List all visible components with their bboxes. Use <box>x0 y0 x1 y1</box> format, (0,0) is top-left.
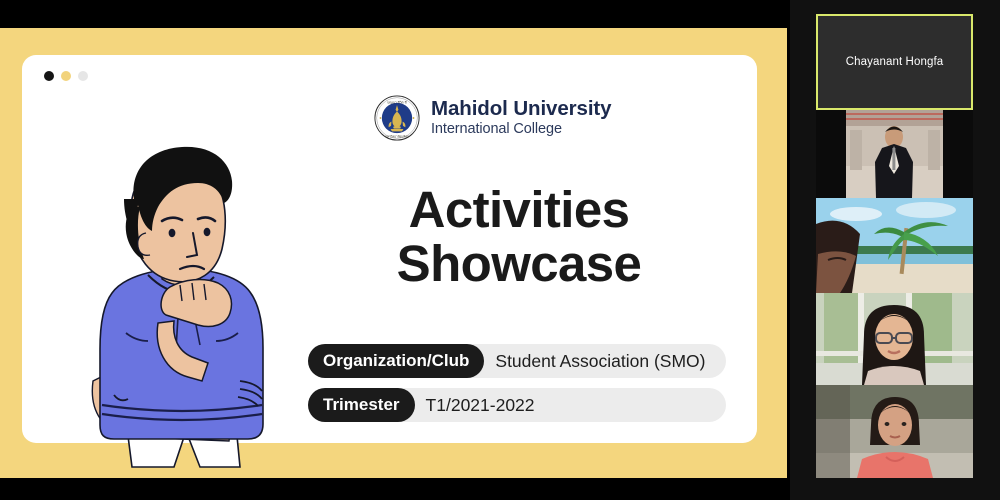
meta-key-organization: Organization/Club <box>308 344 484 378</box>
meta-row-trimester: Trimester T1/2021-2022 <box>308 388 726 422</box>
meta-row-organization: Organization/Club Student Association (S… <box>308 344 726 378</box>
window-dots <box>44 71 88 81</box>
slide-meta-rows: Organization/Club Student Association (S… <box>308 344 726 422</box>
slide-title-line-2: Showcase <box>284 237 754 291</box>
participant-tile-3[interactable] <box>816 293 973 385</box>
participant-tile-1[interactable] <box>816 110 973 198</box>
dot-gray-icon <box>78 71 88 81</box>
participant-tile-4[interactable] <box>816 385 973 478</box>
shared-screen-region[interactable]: ปญฺญา ชีวิต ชี มหาวิทยาลัยมหิดล Mahidol … <box>0 0 790 500</box>
meeting-screen: ปญฺญา ชีวิต ชี มหาวิทยาลัยมหิดล Mahidol … <box>0 0 1000 500</box>
svg-text:มหาวิทยาลัยมหิดล: มหาวิทยาลัยมหิดล <box>385 134 409 138</box>
meta-value-organization: Student Association (SMO) <box>484 351 705 372</box>
participant-video-3 <box>816 293 973 385</box>
participant-tile-2[interactable] <box>816 198 973 293</box>
mahidol-university-seal-icon: ปญฺญา ชีวิต ชี มหาวิทยาลัยมหิดล <box>374 95 420 141</box>
slide-title-line-1: Activities <box>284 183 754 237</box>
university-division: International College <box>431 122 611 137</box>
thinking-person-illustration <box>62 137 302 470</box>
dot-black-icon <box>44 71 54 81</box>
participant-video-4 <box>816 385 973 478</box>
participant-video-1 <box>816 110 973 198</box>
dot-yellow-icon <box>61 71 71 81</box>
meta-key-trimester: Trimester <box>308 388 415 422</box>
university-name: Mahidol University <box>431 98 611 120</box>
presentation-slide: ปญฺญา ชีวิต ชี มหาวิทยาลัยมหิดล Mahidol … <box>0 28 787 478</box>
slide-white-card: ปญฺญา ชีวิต ชี มหาวิทยาลัยมหิดล Mahidol … <box>22 55 757 443</box>
participant-filmstrip[interactable]: Chayanant Hongfa <box>790 0 1000 500</box>
participant-name-label: Chayanant Hongfa <box>846 56 944 68</box>
participant-video-2 <box>816 198 973 293</box>
meta-value-trimester: T1/2021-2022 <box>415 395 535 416</box>
participant-tile-active-speaker[interactable]: Chayanant Hongfa <box>816 14 973 110</box>
mahidol-logo-block: ปญฺญา ชีวิต ชี มหาวิทยาลัยมหิดล Mahidol … <box>374 95 611 141</box>
slide-title: Activities Showcase <box>284 183 754 291</box>
svg-text:ปญฺญา ชีวิต ชี: ปญฺญา ชีวิต ชี <box>387 101 407 105</box>
